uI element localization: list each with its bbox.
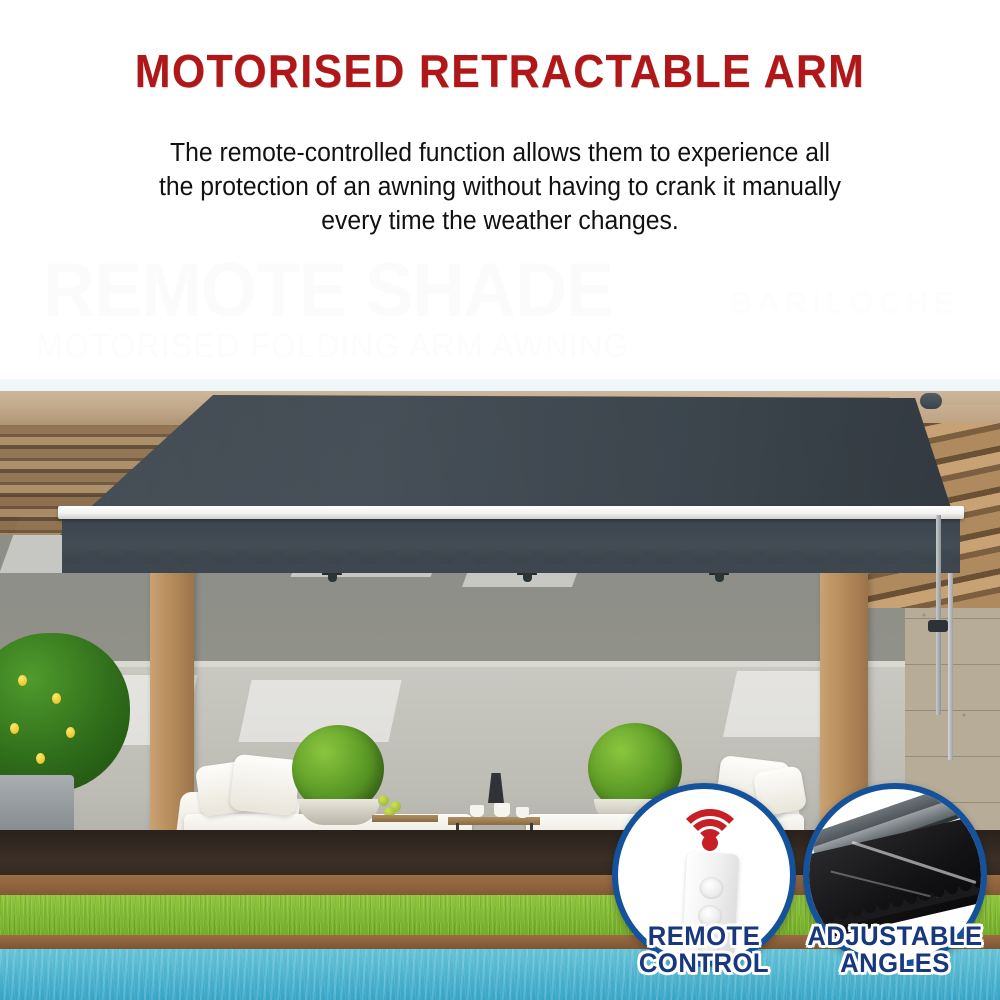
badge-label-line-2: ANGLES [777,950,1000,977]
feature-badge-remote-control[interactable]: REMOTE CONTROL [612,783,796,967]
remote-button-up [699,876,724,899]
lemon-fruit [52,693,61,704]
awning-roller [920,393,942,409]
signal-source-dot [702,835,718,851]
watermark-tagline: MOTORISED FOLDING ARM AWNING [36,327,629,365]
badge-label: ADJUSTABLE ANGLES [777,923,1000,977]
teapot [494,803,510,817]
lemon-fruit [10,723,19,734]
valance-scallop-edge [62,551,960,573]
folding-arm-joint [928,620,948,632]
description-line-3: every time the weather changes. [73,204,927,238]
watermark-brand: REMOTE SHADE [43,247,613,334]
lantern-base [715,574,724,582]
cushion [229,754,300,817]
apple [378,795,389,806]
lemon-fruit [18,675,27,686]
description-line-2: the protection of an awning without havi… [73,170,927,204]
lantern-base [523,574,532,582]
description-line-1: The remote-controlled function allows th… [73,136,927,170]
product-marketing-banner: MOTORISED RETRACTABLE ARM The remote-con… [0,0,1000,1000]
description-text: The remote-controlled function allows th… [73,136,927,238]
awning-front-bar [58,506,964,519]
teacup [470,805,484,817]
plant-bowl [298,799,380,825]
badge-label-line-1: ADJUSTABLE [777,923,1000,950]
lemon-fruit [66,727,75,738]
watermark-mark: BARILOCHE [730,285,959,321]
lemon-fruit [36,753,45,764]
side-table [448,817,540,825]
teacup [516,807,529,818]
header-panel: MOTORISED RETRACTABLE ARM The remote-con… [0,0,1000,379]
lantern-base [328,574,337,582]
page-title: MOTORISED RETRACTABLE ARM [35,44,965,98]
feature-badge-adjustable-angles[interactable]: ADJUSTABLE ANGLES [803,783,987,967]
side-table [372,815,438,822]
folding-arm [936,515,941,715]
umbrella-pole [948,570,953,760]
